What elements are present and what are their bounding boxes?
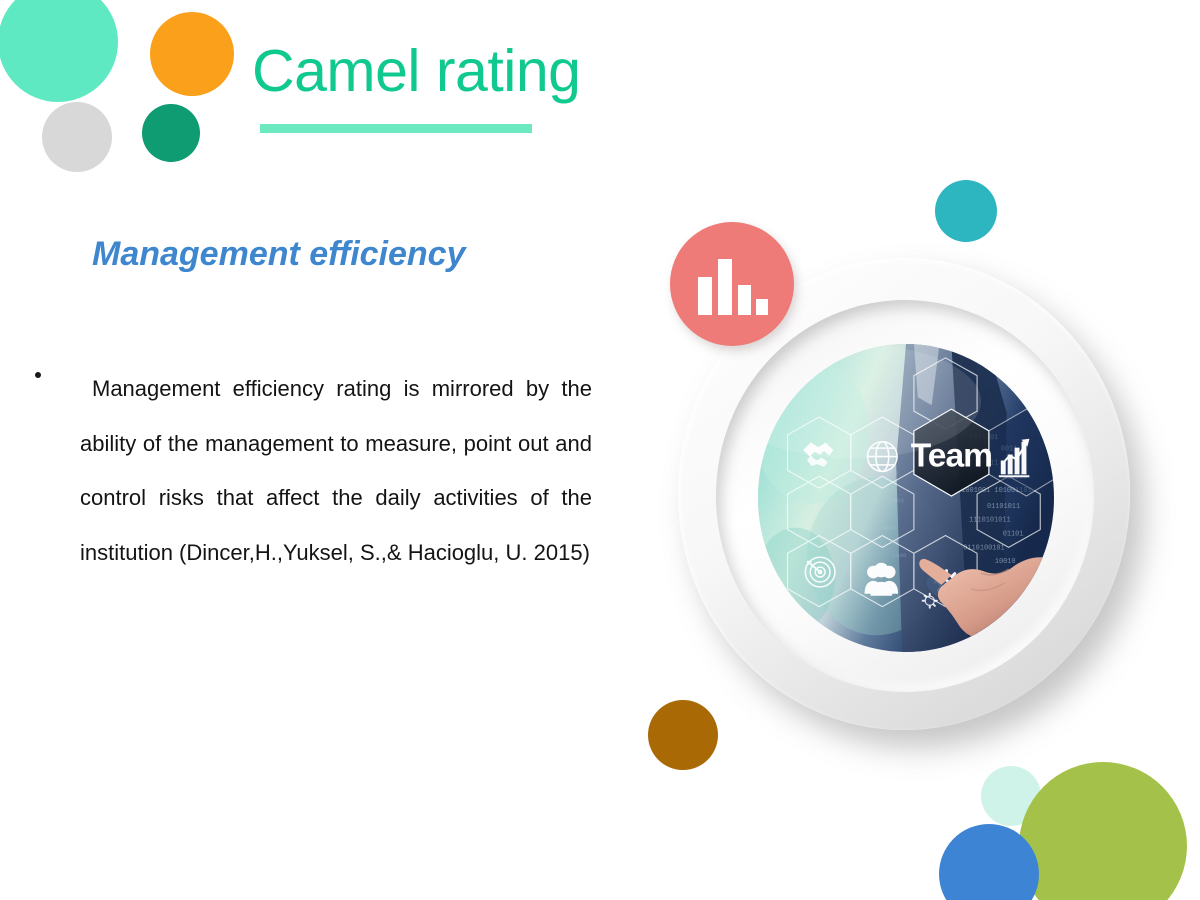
bar-chart-icon — [698, 255, 768, 315]
decor-circle-gray — [42, 102, 112, 172]
decor-circle-green-small — [142, 104, 200, 162]
photo-image-team-interface: 1001001 0011 01100111 10010 1001001 1010… — [758, 344, 1054, 652]
svg-text:1110101011: 1110101011 — [969, 517, 1010, 525]
decor-circle-orange — [150, 12, 234, 96]
body-bullet-item: Management efficiency rating is mirrored… — [30, 362, 592, 580]
bar-chart-badge — [670, 222, 794, 346]
decor-circle-olive — [1019, 762, 1187, 900]
decor-circle-teal — [935, 180, 997, 242]
svg-text:01101011: 01101011 — [987, 503, 1020, 511]
decor-circle-mint-large — [0, 0, 118, 102]
svg-text:1001: 1001 — [890, 497, 905, 504]
bullet-marker — [35, 372, 41, 378]
svg-text:01101: 01101 — [1003, 531, 1024, 539]
svg-text:10010: 10010 — [995, 558, 1016, 566]
photo-artwork: 1001001 0011 01100111 10010 1001001 1010… — [758, 344, 1054, 652]
title-underline — [260, 124, 532, 133]
slide-canvas: Camel rating Management efficiency Manag… — [0, 0, 1200, 900]
body-paragraph: Management efficiency rating is mirrored… — [30, 362, 592, 580]
svg-text:1100: 1100 — [892, 552, 907, 559]
target-icon — [805, 557, 835, 587]
svg-text:0110100101: 0110100101 — [963, 544, 1004, 552]
body-paragraph-text: Management efficiency rating is mirrored… — [80, 376, 592, 565]
svg-text:0101: 0101 — [882, 525, 897, 532]
slide-subtitle: Management efficiency — [92, 236, 466, 273]
slide-title: Camel rating — [252, 42, 580, 101]
